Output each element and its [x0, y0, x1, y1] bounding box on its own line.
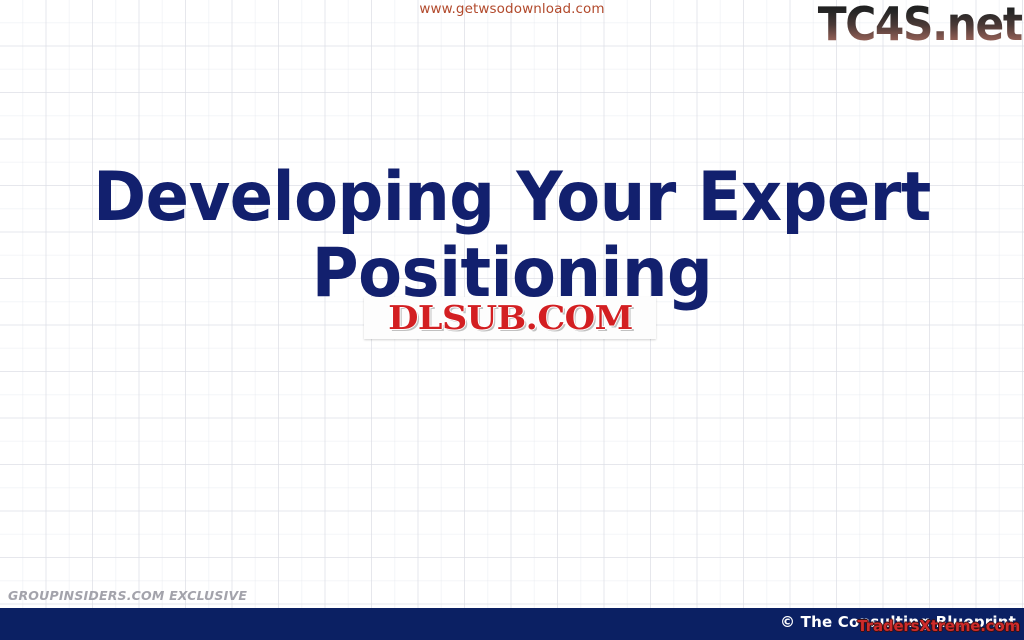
groupinsiders-exclusive-tag: GROUPINSIDERS.COM EXCLUSIVE [8, 588, 247, 603]
tc4s-brand-logo: TC4S.net [818, 0, 1022, 50]
slide-canvas: www.getwsodownload.com TC4S.net Developi… [0, 0, 1024, 640]
page-title: Developing Your Expert Positioning [0, 160, 1024, 312]
dlsub-watermark-stamp: DLSUB.COM [364, 297, 656, 339]
title-line-1: Developing Your Expert [31, 160, 994, 236]
tradersxtreme-watermark: TradersXtreme.com [857, 618, 1020, 635]
dlsub-watermark-text: DLSUB.COM [388, 301, 633, 335]
